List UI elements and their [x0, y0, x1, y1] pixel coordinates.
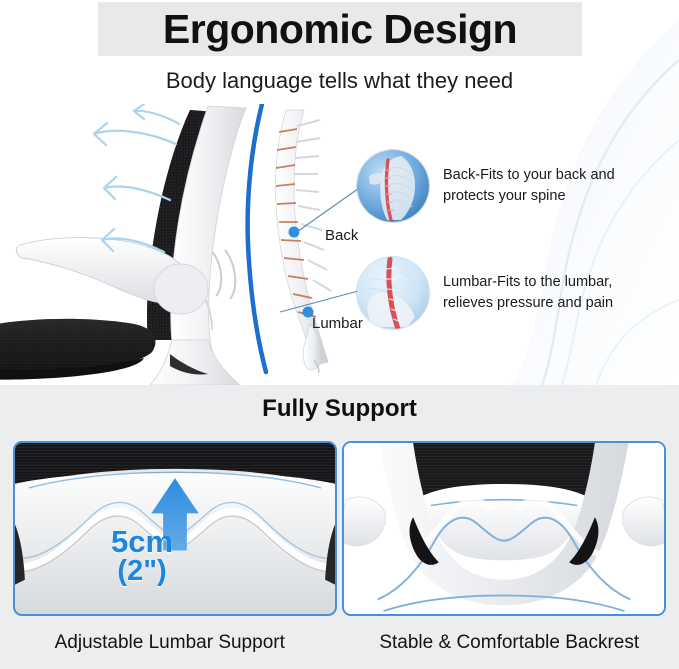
panel-backrest[interactable] — [342, 441, 666, 616]
lumbar-support-closeup-art — [15, 443, 335, 614]
backrest-rear-view-art — [344, 443, 664, 614]
ergonomic-design-section: Ergonomic Design Body language tells wha… — [0, 0, 679, 385]
support-panels: 5cm (2") — [0, 441, 679, 616]
chair-illustration — [0, 104, 274, 385]
title-band: Ergonomic Design — [98, 2, 582, 56]
panel-captions: Adjustable Lumbar Support Stable & Comfo… — [0, 621, 679, 665]
callout-lumbar: Lumbar-Fits to the lumbar, relieves pres… — [357, 257, 613, 329]
lumbar-anatomy-image — [357, 257, 429, 329]
page-title: Ergonomic Design — [163, 9, 517, 50]
callout-back-text: Back-Fits to your back and protects your… — [443, 165, 615, 207]
callout-lumbar-text: Lumbar-Fits to the lumbar, relieves pres… — [443, 272, 613, 314]
back-anatomy-image — [357, 150, 429, 222]
callout-back: Back-Fits to your back and protects your… — [357, 150, 615, 222]
spine-label-lumbar: Lumbar — [312, 315, 363, 332]
page-subtitle: Body language tells what they need — [0, 68, 679, 94]
panel-lumbar-support[interactable]: 5cm (2") — [13, 441, 337, 616]
caption-backrest: Stable & Comfortable Backrest — [340, 621, 679, 665]
lumbar-measure-label: 5cm (2") — [111, 527, 173, 586]
fully-support-section: Fully Support — [0, 385, 679, 669]
caption-lumbar-support: Adjustable Lumbar Support — [0, 621, 340, 665]
spine-label-back: Back — [325, 227, 358, 244]
infographic-page: Ergonomic Design Body language tells wha… — [0, 0, 679, 669]
measure-primary: 5cm — [111, 527, 173, 557]
measure-secondary: (2") — [111, 557, 173, 585]
section-title: Fully Support — [0, 395, 679, 423]
